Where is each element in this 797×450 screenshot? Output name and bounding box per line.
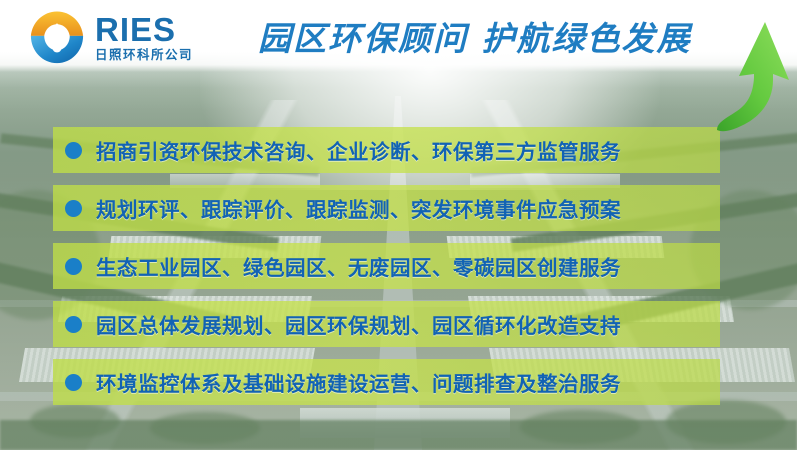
logo-subtitle: 日照环科所公司 [95, 49, 193, 62]
brand-logo[interactable]: RIES 日照环科所公司 [28, 8, 193, 66]
poster-root: RIES 日照环科所公司 园区环保顾问 护航绿色发展 招商引资环保技术咨询、企业… [0, 0, 797, 450]
list-item[interactable]: 环境监控体系及基础设施建设运营、问题排查及整治服务 [53, 359, 720, 405]
logo-text-block: RIES 日照环科所公司 [95, 13, 193, 62]
bullet-icon [65, 258, 82, 275]
bullet-icon [65, 316, 82, 333]
list-item-label: 园区总体发展规划、园区环保规划、园区循环化改造支持 [96, 309, 621, 339]
page-title: 园区环保顾问 护航绿色发展 [258, 12, 692, 60]
ries-circular-logo-icon [28, 8, 86, 66]
growth-arrow-icon [713, 14, 793, 134]
header-bar: RIES 日照环科所公司 园区环保顾问 护航绿色发展 [0, 0, 797, 72]
list-item[interactable]: 招商引资环保技术咨询、企业诊断、环保第三方监管服务 [53, 127, 720, 173]
bullet-icon [65, 142, 82, 159]
logo-wordmark: RIES [95, 13, 193, 46]
list-item[interactable]: 园区总体发展规划、园区环保规划、园区循环化改造支持 [53, 301, 720, 347]
bullet-icon [65, 374, 82, 391]
list-item-label: 生态工业园区、绿色园区、无废园区、零碳园区创建服务 [96, 251, 621, 281]
list-item-label: 环境监控体系及基础设施建设运营、问题排查及整治服务 [96, 367, 621, 397]
bullet-icon [65, 200, 82, 217]
list-item[interactable]: 生态工业园区、绿色园区、无废园区、零碳园区创建服务 [53, 243, 720, 289]
list-item-label: 规划环评、跟踪评价、跟踪监测、突发环境事件应急预案 [96, 193, 621, 223]
list-item[interactable]: 规划环评、跟踪评价、跟踪监测、突发环境事件应急预案 [53, 185, 720, 231]
list-item-label: 招商引资环保技术咨询、企业诊断、环保第三方监管服务 [96, 135, 621, 165]
